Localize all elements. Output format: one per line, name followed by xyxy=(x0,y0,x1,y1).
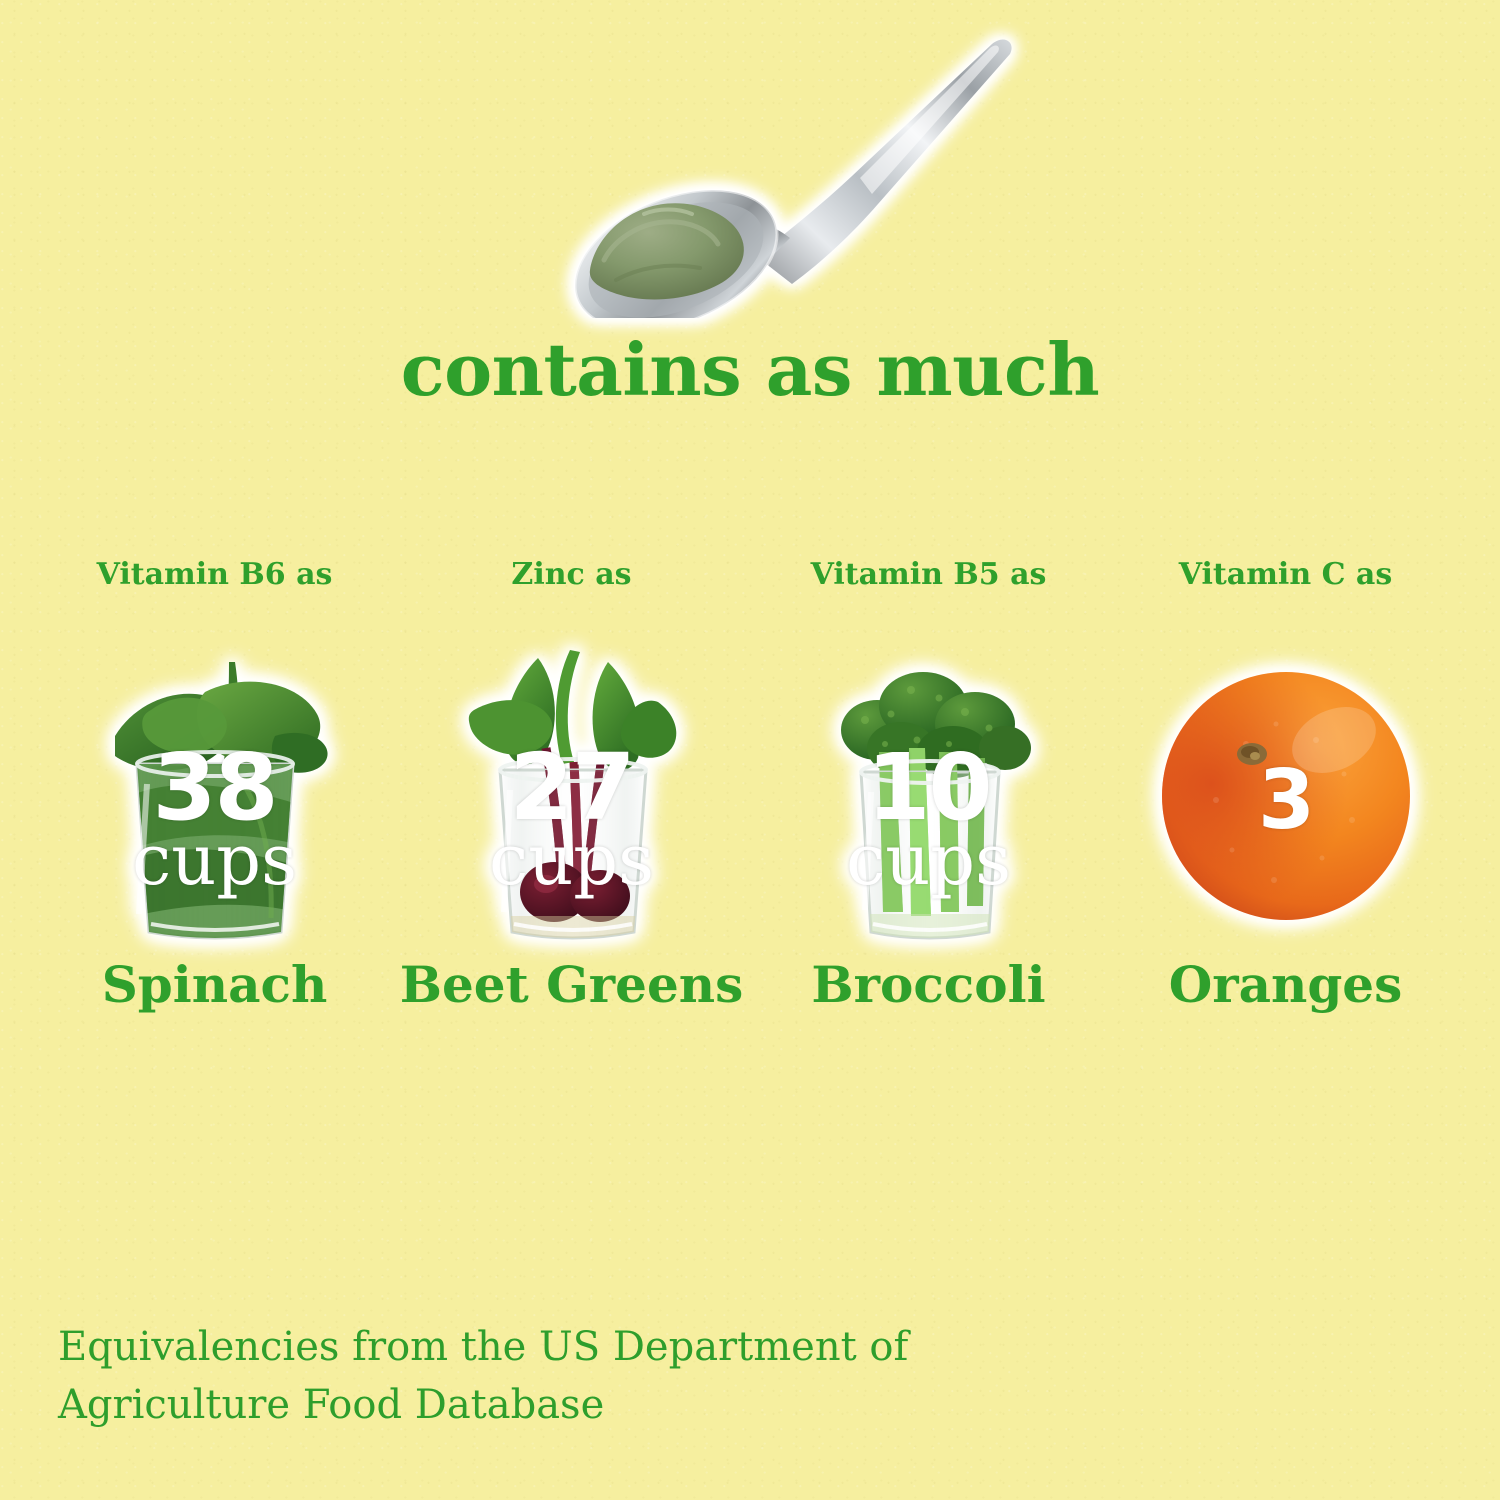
glass-of-beet-greens-image: 27 cups xyxy=(442,644,702,944)
equivalency-column-broccoli: Vitamin B5 as xyxy=(750,560,1107,1040)
source-footnote: Equivalencies from the US Department of … xyxy=(58,1318,958,1434)
food-label: Spinach xyxy=(36,960,393,1010)
glass-of-spinach-image: 38 cups xyxy=(85,644,345,944)
nutrient-label: Vitamin B5 as xyxy=(811,560,1047,600)
footnote-line-2: Agriculture Food Database xyxy=(58,1376,958,1434)
food-label: Broccoli xyxy=(750,960,1107,1010)
orange-fruit-image: 3 xyxy=(1156,644,1416,944)
nutrient-label: Vitamin C as xyxy=(1179,560,1393,600)
food-label: Oranges xyxy=(1107,960,1464,1010)
food-label: Beet Greens xyxy=(393,960,750,1010)
page-title: contains as much xyxy=(0,334,1500,406)
footnote-line-1: Equivalencies from the US Department of xyxy=(58,1318,958,1376)
equivalency-column-oranges: Vitamin C as xyxy=(1107,560,1464,1040)
spoon-of-green-powder-image xyxy=(560,18,1030,318)
equivalency-columns: Vitamin B6 as xyxy=(36,560,1464,1040)
equivalency-column-spinach: Vitamin B6 as xyxy=(36,560,393,1040)
equivalency-column-beet-greens: Zinc as xyxy=(393,560,750,1040)
hero-section: contains as much xyxy=(0,0,1500,330)
nutrient-label: Vitamin B6 as xyxy=(97,560,333,600)
glass-of-broccoli-image: 10 cups xyxy=(799,644,1059,944)
nutrient-label: Zinc as xyxy=(511,560,631,600)
